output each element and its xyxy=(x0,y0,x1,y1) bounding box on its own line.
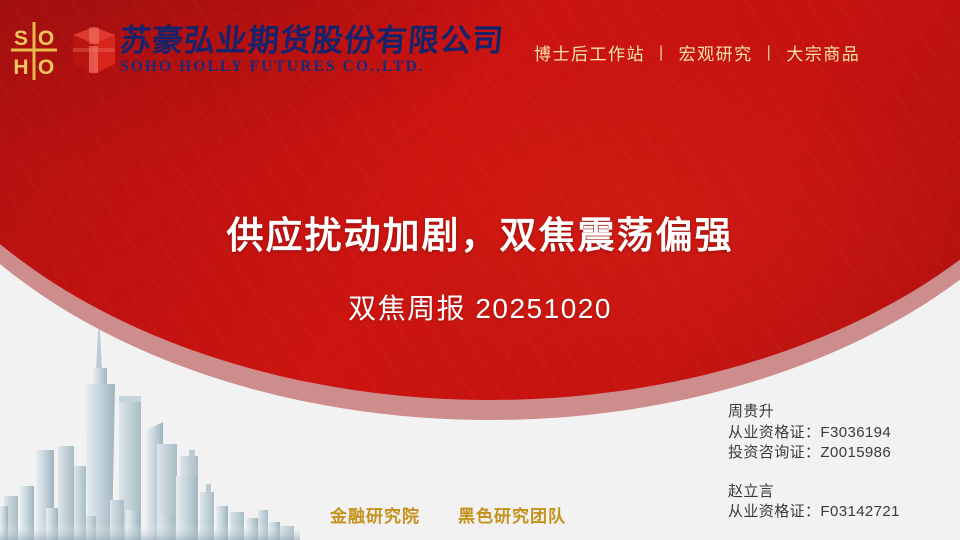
company-name-en: SOHO HOLLY FUTURES CO.,LTD. xyxy=(120,58,470,76)
soho-logo-icon: S O H O xyxy=(11,22,57,80)
nav-separator: | xyxy=(767,44,773,62)
nav-separator: | xyxy=(659,44,665,62)
svg-text:H: H xyxy=(13,56,28,79)
gift-box-icon xyxy=(72,26,116,76)
slide-subtitle: 双焦周报 20251020 xyxy=(0,287,960,327)
analyst-2-practice-license: 从业资格证：F03142721 xyxy=(728,502,900,523)
analyst-1-practice-license: 从业资格证：F3036194 xyxy=(728,423,900,444)
slide-title: 供应扰动加剧，双焦震荡偏强 xyxy=(0,205,960,259)
svg-text:O: O xyxy=(38,56,54,79)
analyst-name-2: 赵立言 xyxy=(728,482,900,503)
nav-item-commodities[interactable]: 大宗商品 xyxy=(772,40,874,65)
header-nav[interactable]: 博士后工作站 | 宏观研究 | 大宗商品 xyxy=(520,40,874,65)
dept-black-metals-research-team: 黑色研究团队 xyxy=(458,502,566,527)
presentation-slide: S O H O 苏豪弘业期货股份有限公司 SOHO HOLLY FUTURES … xyxy=(0,0,960,540)
analyst-1-advisory-license: 投资咨询证：Z0015986 xyxy=(728,443,900,464)
nav-item-macro-research[interactable]: 宏观研究 xyxy=(665,40,767,65)
svg-text:S: S xyxy=(14,27,28,50)
slide-header: S O H O 苏豪弘业期货股份有限公司 SOHO HOLLY FUTURES … xyxy=(0,0,960,100)
credentials-spacer xyxy=(728,464,900,482)
analyst-credentials: 周贵升 从业资格证：F3036194 投资咨询证：Z0015986 赵立言 从业… xyxy=(728,402,900,523)
company-name-cn: 苏豪弘业期货股份有限公司 xyxy=(118,22,471,60)
department-labels: 金融研究院 黑色研究团队 xyxy=(330,502,566,527)
nav-item-postdoc-station[interactable]: 博士后工作站 xyxy=(520,40,659,65)
dept-financial-research-institute: 金融研究院 xyxy=(330,502,420,527)
company-name-block: 苏豪弘业期货股份有限公司 SOHO HOLLY FUTURES CO.,LTD. xyxy=(120,22,470,76)
analyst-name-1: 周贵升 xyxy=(728,402,900,423)
svg-text:O: O xyxy=(38,27,54,50)
